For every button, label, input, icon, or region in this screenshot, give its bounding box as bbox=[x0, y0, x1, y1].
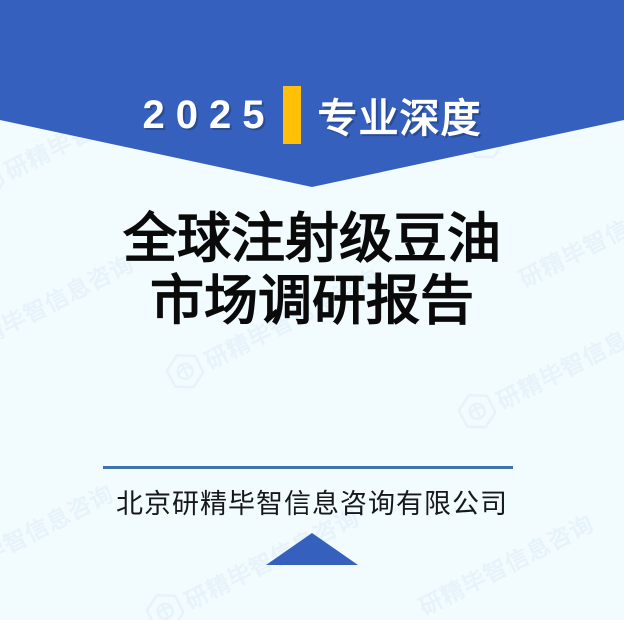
report-cover-page: 研精毕智信息咨询研精毕智信息咨询研精毕智信息咨询研精毕智信息咨询研精毕智信息咨询… bbox=[0, 0, 624, 620]
accent-bar bbox=[283, 86, 301, 144]
cover-year: 2025 bbox=[143, 93, 280, 138]
page-title: 全球注射级豆油 市场调研报告 bbox=[0, 208, 624, 332]
hexagon-globe-logo-icon bbox=[0, 157, 9, 206]
hexagon-globe-logo-icon bbox=[141, 587, 189, 620]
header-row: 2025 专业深度 bbox=[0, 86, 624, 144]
publisher-name: 北京研精毕智信息咨询有限公司 bbox=[0, 482, 624, 521]
cover-tagline: 专业深度 bbox=[317, 86, 481, 144]
hexagon-globe-logo-icon bbox=[453, 387, 501, 436]
page-title-line-2: 市场调研报告 bbox=[0, 270, 624, 332]
publisher-divider-rule bbox=[103, 466, 513, 469]
triangle-up-icon bbox=[266, 533, 358, 565]
bottom-ornament bbox=[0, 533, 624, 565]
page-title-line-1: 全球注射级豆油 bbox=[0, 208, 624, 270]
hexagon-globe-logo-icon bbox=[161, 347, 209, 396]
